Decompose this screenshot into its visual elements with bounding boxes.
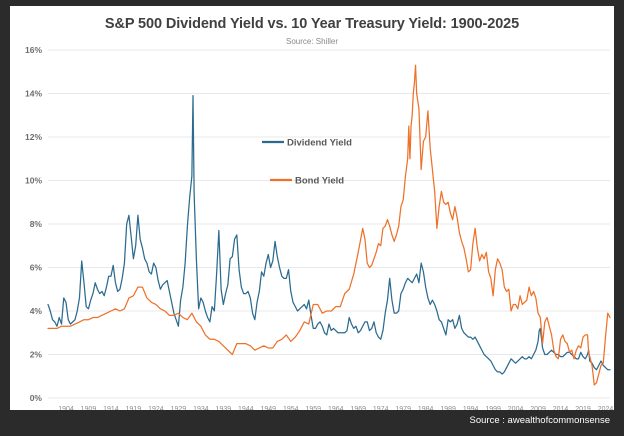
series-line-bond-yield — [48, 65, 610, 385]
y-axis-tick-label: 2% — [30, 350, 43, 360]
legend-label-bond-yield: Bond Yield — [295, 176, 344, 187]
y-axis-tick-label: 12% — [25, 132, 42, 142]
y-axis-tick-label: 0% — [30, 393, 43, 403]
y-axis-tick-label: 10% — [25, 176, 42, 186]
gridlines-group — [48, 50, 610, 398]
legend-label-dividend-yield: Dividend Yield — [287, 138, 352, 149]
y-axis-tick-label: 4% — [30, 306, 43, 316]
y-axis-tick-label: 6% — [30, 263, 43, 273]
y-axis-tick-labels: 0%2%4%6%8%10%12%14%16% — [25, 45, 42, 403]
chart-card: S&P 500 Dividend Yield vs. 10 Year Treas… — [10, 6, 614, 410]
y-axis-tick-label: 8% — [30, 219, 43, 229]
screenshot-frame: S&P 500 Dividend Yield vs. 10 Year Treas… — [0, 0, 624, 436]
data-series-group — [48, 65, 610, 385]
plot-area: 0%2%4%6%8%10%12%14%16% 19041909191419191… — [10, 6, 614, 410]
y-axis-tick-label: 16% — [25, 45, 42, 55]
chart-legend: Dividend YieldBond Yield — [262, 138, 352, 187]
footer-bar: Source : awealthofcommonsense — [0, 410, 624, 436]
footer-source-label: Source : awealthofcommonsense — [470, 415, 610, 426]
line-chart: 0%2%4%6%8%10%12%14%16% 19041909191419191… — [10, 6, 614, 410]
y-axis-tick-label: 14% — [25, 89, 42, 99]
